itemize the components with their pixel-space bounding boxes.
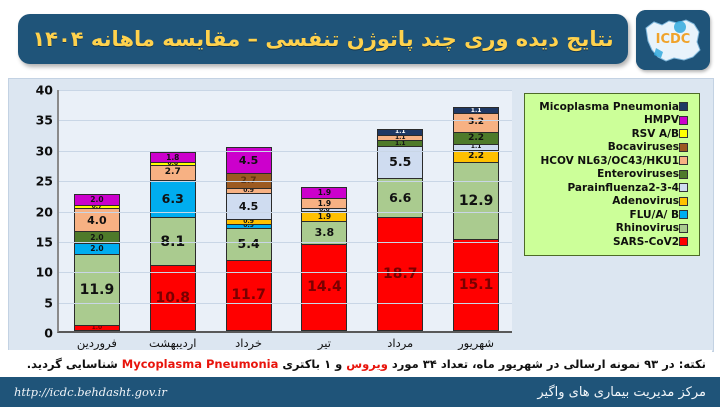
segment-value-label: 11.9 (80, 283, 115, 297)
page-title: نتایج دیده وری چند پاتوژن تنفسی – مقایسه… (32, 27, 613, 51)
y-axis-tick: 10 (36, 265, 53, 280)
gridline (59, 272, 512, 273)
segment-value-label: 2.7 (165, 168, 181, 177)
segment-value-label: 1.0 (92, 325, 103, 331)
legend-label: Adenovirus (612, 195, 679, 207)
footer-url[interactable]: http://icdc.behdasht.gov.ir (14, 385, 167, 399)
bar-segment[interactable]: 11.7 (226, 260, 272, 331)
icdc-iran-map-logo: ICDC (636, 10, 710, 70)
bar-segment[interactable]: 3.2 (453, 113, 499, 132)
footnote-middle: و ۱ باکتری (278, 357, 346, 371)
legend-label: Enteroviruses (597, 168, 679, 180)
note-band: نکته: در ۹۳ نمونه ارسالی در شهریور ماه، … (8, 350, 712, 377)
legend-swatch (679, 143, 688, 152)
segment-value-label: 1.9 (318, 213, 331, 221)
y-axis-tick: 0 (44, 326, 53, 341)
segment-value-label: 2.2 (468, 152, 484, 161)
gridline (59, 242, 512, 243)
gridline (59, 90, 512, 91)
segment-value-label: 4.0 (87, 215, 107, 226)
gridline (59, 181, 512, 182)
segment-value-label: 1.9 (318, 200, 331, 208)
segment-value-label: 6.6 (389, 192, 411, 205)
bars-layer: 1.011.92.02.04.00.72.0فروردین10.88.16.32… (59, 90, 512, 331)
footnote-prefix: نکته: در ۹۳ نمونه ارسالی در شهریور ماه، … (388, 357, 706, 371)
bar-segment[interactable]: 5.4 (226, 228, 272, 261)
legend-label: HMPV (644, 114, 679, 126)
legend-item[interactable]: Parainfluenza2-3-4 (531, 182, 693, 194)
x-axis-label: فروردین (62, 336, 132, 350)
segment-value-label: 4.5 (239, 201, 259, 212)
bar-segment[interactable]: 12.9 (453, 162, 499, 240)
legend-item[interactable]: HMPV (531, 114, 693, 126)
y-axis-tick: 20 (36, 204, 53, 219)
legend-label: Rhinovirus (616, 222, 679, 234)
iran-map-icon: ICDC (636, 10, 710, 70)
header: نتایج دیده وری چند پاتوژن تنفسی – مقایسه… (0, 0, 720, 78)
segment-value-label: 2.0 (90, 245, 103, 253)
legend-label: HCOV NL63/OC43/HKU1 (541, 155, 680, 167)
x-axis-label: خرداد (214, 336, 284, 350)
y-axis-tick: 15 (36, 234, 53, 249)
legend-label: Bocaviruses (608, 141, 679, 153)
footnote: نکته: در ۹۳ نمونه ارسالی در شهریور ماه، … (27, 357, 706, 371)
legend-item[interactable]: Rhinovirus (531, 222, 693, 234)
y-axis-tick: 30 (36, 143, 53, 158)
bar-segment[interactable]: 15.1 (453, 239, 499, 331)
x-axis-label: شهریور (441, 336, 511, 350)
bar-column[interactable]: 1.011.92.02.04.00.72.0فروردین (74, 195, 120, 331)
legend-label: Parainfluenza2-3-4 (567, 182, 679, 194)
bar-segment[interactable]: 1.0 (74, 325, 120, 331)
segment-value-label: 12.9 (459, 194, 494, 208)
bar-segment[interactable]: 11.9 (74, 254, 120, 326)
title-plate: نتایج دیده وری چند پاتوژن تنفسی – مقایسه… (18, 14, 628, 64)
logo-text: ICDC (656, 32, 691, 47)
legend-swatch (679, 102, 688, 111)
segment-value-label: 15.1 (459, 278, 494, 292)
legend-swatch (679, 210, 688, 219)
segment-value-label: 14.4 (307, 280, 342, 294)
footer-bar: مرکز مدیریت بیماری های واگیر http://icdc… (0, 377, 720, 407)
bar-segment[interactable]: 4.5 (226, 193, 272, 220)
legend-swatch (679, 237, 688, 246)
footnote-bacteria-name: Mycoplasma Pneumonia (122, 357, 279, 371)
footnote-virus-word: ویروس (346, 357, 388, 371)
gridline (59, 212, 512, 213)
y-axis-tick: 5 (44, 295, 53, 310)
segment-value-label: 11.7 (231, 288, 266, 302)
x-axis-label: تیر (289, 336, 359, 350)
segment-value-label: 4.5 (239, 155, 259, 166)
legend-label: SARS-CoV2 (613, 236, 679, 248)
y-axis-tick: 35 (36, 113, 53, 128)
segment-value-label: 1.8 (166, 154, 179, 162)
segment-value-label: 3.8 (315, 227, 335, 238)
y-axis-tick: 40 (36, 83, 53, 98)
segment-value-label: 2.0 (90, 234, 103, 242)
legend-item[interactable]: HCOV NL63/OC43/HKU1 (531, 155, 693, 167)
x-axis-label: مرداد (365, 336, 435, 350)
bar-segment[interactable]: 18.7 (377, 217, 423, 331)
legend-swatch (679, 183, 688, 192)
bar-segment[interactable]: 2.2 (453, 132, 499, 145)
bar-segment[interactable]: 2.7 (150, 165, 196, 181)
legend-item[interactable]: Enteroviruses (531, 168, 693, 180)
legend-swatch (679, 116, 688, 125)
x-axis-label: اردیبهشت (138, 336, 208, 350)
legend-item[interactable]: SARS-CoV2 (531, 236, 693, 248)
chart-legend: Micoplasma PneumoniaHMPVRSV A/BBocavirus… (524, 93, 700, 256)
gridline (59, 151, 512, 152)
legend-item[interactable]: Micoplasma Pneumonia (531, 101, 693, 113)
bar-column[interactable]: 14.43.81.90.61.91.9تیر (301, 188, 347, 331)
footer-organization: مرکز مدیریت بیماری های واگیر (537, 385, 706, 400)
legend-item[interactable]: Adenovirus (531, 195, 693, 207)
y-axis-tick: 25 (36, 174, 53, 189)
legend-item[interactable]: Bocaviruses (531, 141, 693, 153)
legend-swatch (679, 129, 688, 138)
slide-root: نتایج دیده وری چند پاتوژن تنفسی – مقایسه… (0, 0, 720, 407)
legend-item[interactable]: FLU/A/ B (531, 209, 693, 221)
legend-swatch (679, 170, 688, 179)
legend-swatch (679, 224, 688, 233)
gridline (59, 303, 512, 304)
legend-swatch (679, 197, 688, 206)
legend-label: FLU/A/ B (630, 209, 679, 221)
legend-swatch (679, 156, 688, 165)
legend-label: RSV A/B (632, 128, 679, 140)
segment-value-label: 5.5 (389, 156, 411, 169)
footnote-suffix: شناسایی گردید. (27, 357, 122, 371)
bar-column[interactable]: 15.112.92.21.12.23.21.1شهریور (453, 108, 499, 331)
chart-panel: 1.011.92.02.04.00.72.0فروردین10.88.16.32… (8, 78, 714, 352)
legend-label: Micoplasma Pneumonia (539, 101, 679, 113)
bar-segment[interactable]: 14.4 (301, 244, 347, 331)
segment-value-label: 1.9 (318, 189, 331, 197)
segment-value-label: 2.0 (90, 196, 103, 204)
bar-column[interactable]: 18.76.65.51.11.11.1مرداد (377, 130, 423, 331)
plot-area: 1.011.92.02.04.00.72.0فروردین10.88.16.32… (57, 90, 512, 333)
segment-value-label: 5.4 (238, 238, 260, 251)
segment-value-label: 6.3 (162, 193, 184, 206)
segment-value-label: 2.2 (468, 134, 484, 143)
gridline (59, 120, 512, 121)
legend-item[interactable]: RSV A/B (531, 128, 693, 140)
bar-segment[interactable]: 10.8 (150, 265, 196, 331)
segment-value-label: 18.7 (383, 267, 418, 281)
